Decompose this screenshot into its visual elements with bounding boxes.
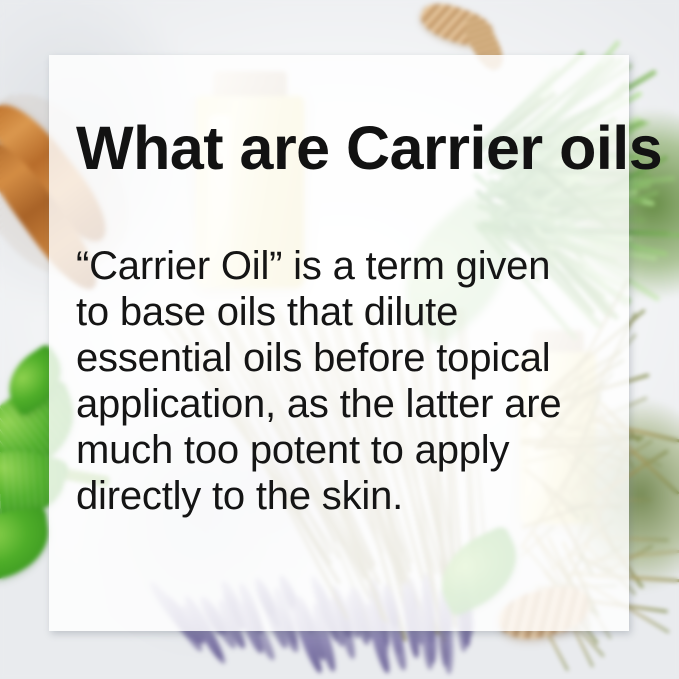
body-line: “Carrier Oil” is a term given xyxy=(76,243,621,289)
body-line: much too potent to apply xyxy=(76,427,621,473)
content-card: What are Carrier oils ? “Carrier Oil” is… xyxy=(49,55,629,631)
body-line: essential oils before topical xyxy=(76,335,621,381)
body-paragraph: “Carrier Oil” is a term givento base oil… xyxy=(76,243,621,519)
infographic-canvas: What are Carrier oils ? “Carrier Oil” is… xyxy=(0,0,679,679)
body-line: directly to the skin. xyxy=(76,473,621,519)
body-line: to base oils that dilute xyxy=(76,289,621,335)
body-line: application, as the latter are xyxy=(76,381,621,427)
page-title: What are Carrier oils ? xyxy=(76,118,616,179)
